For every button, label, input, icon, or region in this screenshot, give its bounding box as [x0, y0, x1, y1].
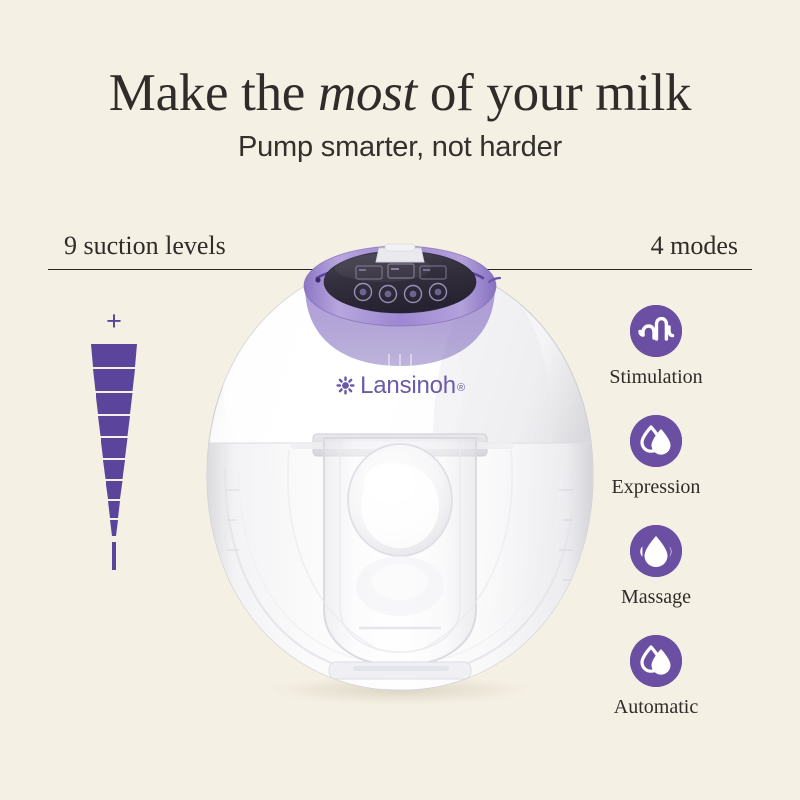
page-title: Make the most of your milk — [0, 66, 800, 122]
mode-item-massage[interactable]: Massage — [556, 525, 756, 635]
suction-level-bar — [98, 416, 130, 436]
suction-level-bar — [106, 481, 123, 499]
suction-level-bar — [93, 369, 135, 391]
brand-name: Lansinoh — [360, 372, 456, 399]
suction-max-symbol: + — [78, 308, 150, 335]
brand-trademark: ® — [457, 382, 465, 394]
suction-level-bar — [110, 520, 118, 536]
infographic-canvas: Make the most of your milk Pump smarter,… — [0, 0, 800, 800]
two-droplets-icon — [630, 415, 682, 467]
headline-part-2: of your milk — [417, 64, 691, 122]
headline-part-1: Make the — [109, 64, 318, 122]
mode-label: Massage — [556, 587, 756, 607]
mode-label: Stimulation — [556, 367, 756, 387]
suction-level-bar — [101, 438, 128, 458]
modes-label: 4 modes — [651, 231, 738, 261]
page-subtitle: Pump smarter, not harder — [0, 131, 800, 164]
wave-pulse-icon — [630, 305, 682, 357]
suction-level-bar — [108, 501, 120, 518]
flower-logo-icon — [336, 376, 355, 395]
suction-min-indicator — [112, 542, 116, 570]
mode-item-automatic[interactable]: Automatic — [556, 635, 756, 745]
suction-level-bar — [91, 344, 137, 367]
droplet-crescents-icon — [630, 525, 682, 577]
suction-level-bar — [103, 460, 125, 479]
mode-item-expression[interactable]: Expression — [556, 415, 756, 525]
suction-bar-stack — [78, 344, 150, 538]
mode-label: Automatic — [556, 697, 756, 717]
suction-level-gauge: + — [78, 308, 150, 570]
suction-level-bar — [96, 393, 133, 414]
headline-emphasis: most — [318, 64, 417, 122]
brand-logo: Lansinoh® — [193, 374, 608, 398]
mode-item-stimulation[interactable]: Stimulation — [556, 305, 756, 415]
modes-list: Stimulation Expression — [556, 305, 756, 745]
product-image-breast-pump: Lansinoh® — [193, 238, 608, 708]
two-droplets-icon — [630, 635, 682, 687]
pump-illustration — [193, 238, 608, 708]
mode-label: Expression — [556, 477, 756, 497]
